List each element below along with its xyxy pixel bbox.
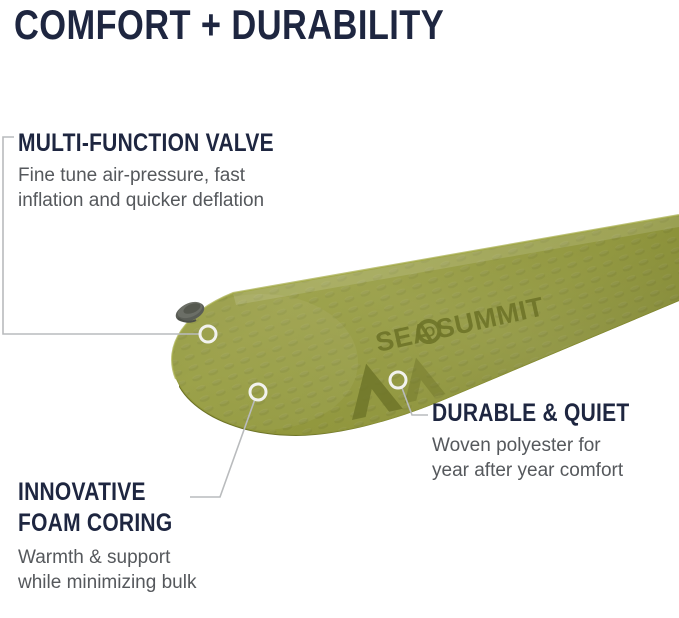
infographic-canvas: SEA SUMMIT O xyxy=(0,0,679,618)
callout-multi-function-valve: MULTI-FUNCTION VALVE Fine tune air-press… xyxy=(18,130,323,213)
callout-heading-valve: MULTI-FUNCTION VALVE xyxy=(18,130,274,157)
callout-body-durable: Woven polyester for year after year comf… xyxy=(432,433,667,483)
callout-heading-foam: INNOVATIVE FOAM CORING xyxy=(18,477,172,539)
callout-innovative-foam-coring: INNOVATIVE FOAM CORING Warmth & support … xyxy=(18,477,202,595)
callout-durable-quiet: DURABLE & QUIET Woven polyester for year… xyxy=(432,400,667,483)
callout-body-valve: Fine tune air-pressure, fast inflation a… xyxy=(18,163,323,213)
callout-body-foam: Warmth & support while minimizing bulk xyxy=(18,545,202,595)
page-title: COMFORT + DURABILITY xyxy=(14,2,444,48)
callout-heading-durable: DURABLE & QUIET xyxy=(432,400,629,427)
